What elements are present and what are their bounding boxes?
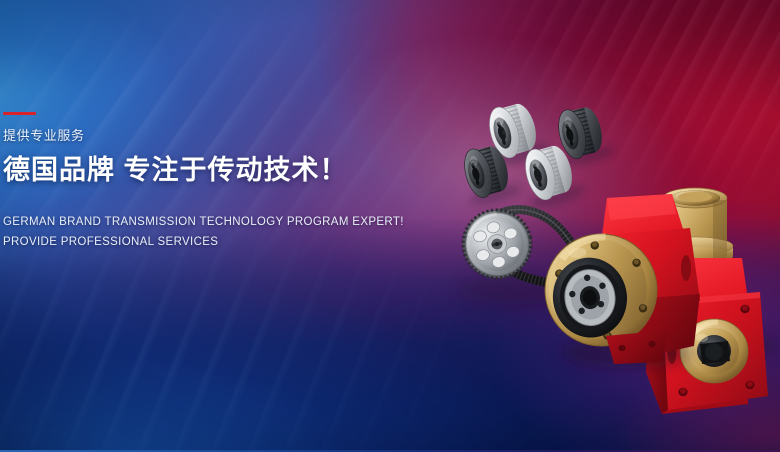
subline-one: GERMAN BRAND TRANSMISSION TECHNOLOGY PRO… xyxy=(3,212,423,232)
eyebrow-text: 提供专业服务 xyxy=(3,128,423,143)
promo-banner: 提供专业服务 德国品牌 专注于传动技术！ GERMAN BRAND TRANSM… xyxy=(0,0,780,452)
page-title: 德国品牌 专注于传动技术！ xyxy=(3,156,423,185)
copy-block: 提供专业服务 德国品牌 专注于传动技术！ GERMAN BRAND TRANSM… xyxy=(3,112,423,252)
subline-two: PROVIDE PROFESSIONAL SERVICES xyxy=(3,232,423,252)
accent-rule xyxy=(3,112,36,115)
